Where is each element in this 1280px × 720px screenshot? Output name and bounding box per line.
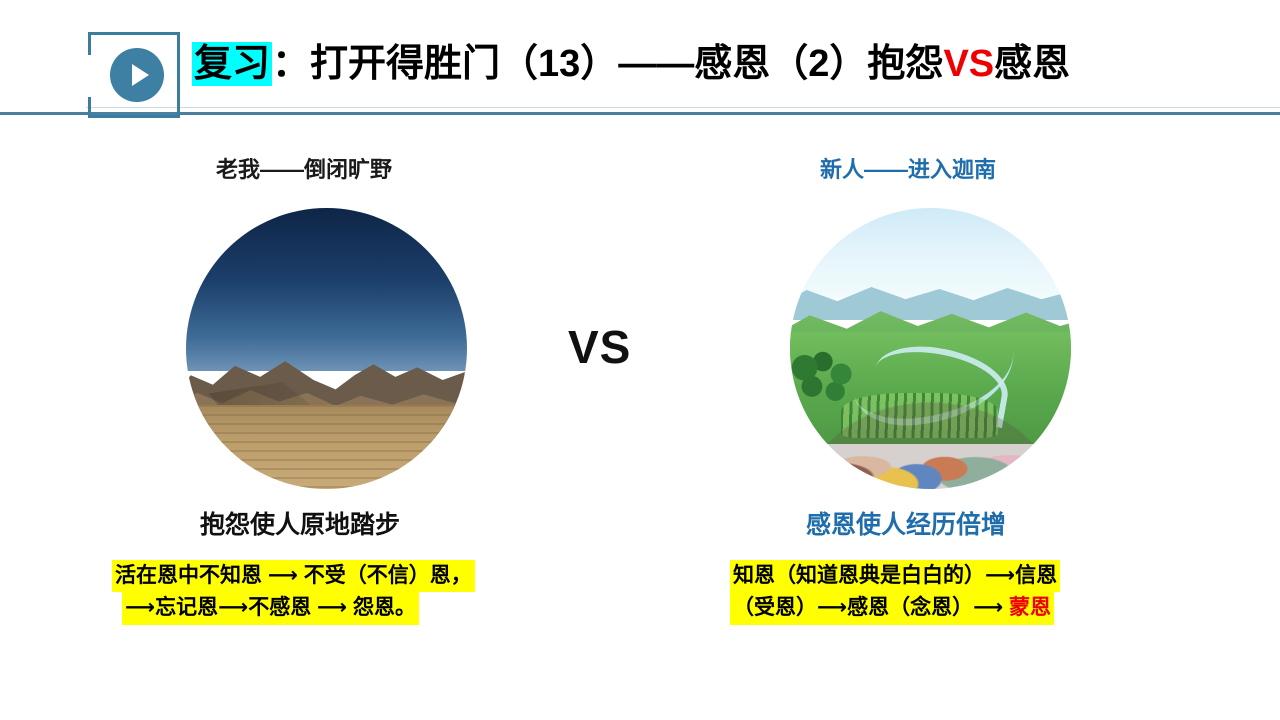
right-formula-line-2-emphasis: 蒙恩	[1009, 596, 1051, 619]
play-button-icon[interactable]	[110, 48, 164, 102]
left-column-heading: 老我——倒闭旷野	[216, 152, 392, 184]
left-formula-line-1: 活在恩中不知恩 ⟶ 不受（不信）恩，	[112, 560, 475, 592]
right-formula-line-1: 知恩（知道恩典是白白的）⟶信恩	[730, 560, 1060, 592]
desert-sky-layer	[186, 208, 467, 371]
canaan-crowd-layer	[790, 388, 1071, 489]
desert-plain-layer	[186, 405, 467, 489]
right-formula-line-2: （受恩）⟶感恩（念恩）⟶ 蒙恩	[730, 592, 1054, 624]
page-title: 复习：打开得胜门（13）——感恩（2）抱怨VS感恩	[192, 44, 1070, 86]
right-circle-image-canaan	[790, 208, 1071, 489]
page-title-colon: ：	[272, 43, 310, 85]
right-caption: 感恩使人经历倍增	[806, 505, 1006, 541]
left-caption: 抱怨使人原地踏步	[200, 505, 400, 541]
page-title-highlight: 复习	[192, 42, 272, 86]
left-formula-box: 活在恩中不知恩 ⟶ 不受（不信）恩， ⟶忘记恩⟶不感恩 ⟶ 怨恩。	[112, 560, 475, 625]
right-column-heading: 新人——进入迦南	[820, 152, 996, 184]
right-formula-line-2-text: （受恩）⟶感恩（念恩）⟶	[733, 596, 1009, 619]
left-circle-image-wilderness	[186, 208, 467, 489]
slide-title-bar: 复习：打开得胜门（13）——感恩（2）抱怨VS感恩	[0, 0, 1280, 130]
play-icon-frame-gap	[88, 55, 92, 97]
page-title-tail: 感恩	[994, 43, 1070, 85]
title-divider-soft	[86, 107, 1280, 108]
left-formula-line-2: ⟶忘记恩⟶不感恩 ⟶ 怨恩。	[122, 592, 419, 624]
canaan-sky-layer	[790, 208, 1071, 298]
title-divider	[0, 112, 1280, 115]
versus-label: VS	[568, 320, 631, 374]
play-triangle-icon	[132, 64, 149, 86]
page-title-vs: VS	[943, 43, 994, 85]
page-title-rest: 打开得胜门（13）——感恩（2）抱怨	[310, 43, 943, 85]
slide-canvas: 复习：打开得胜门（13）——感恩（2）抱怨VS感恩 老我——倒闭旷野 抱怨使人原…	[0, 0, 1280, 720]
right-formula-box: 知恩（知道恩典是白白的）⟶信恩 （受恩）⟶感恩（念恩）⟶ 蒙恩	[730, 560, 1060, 625]
